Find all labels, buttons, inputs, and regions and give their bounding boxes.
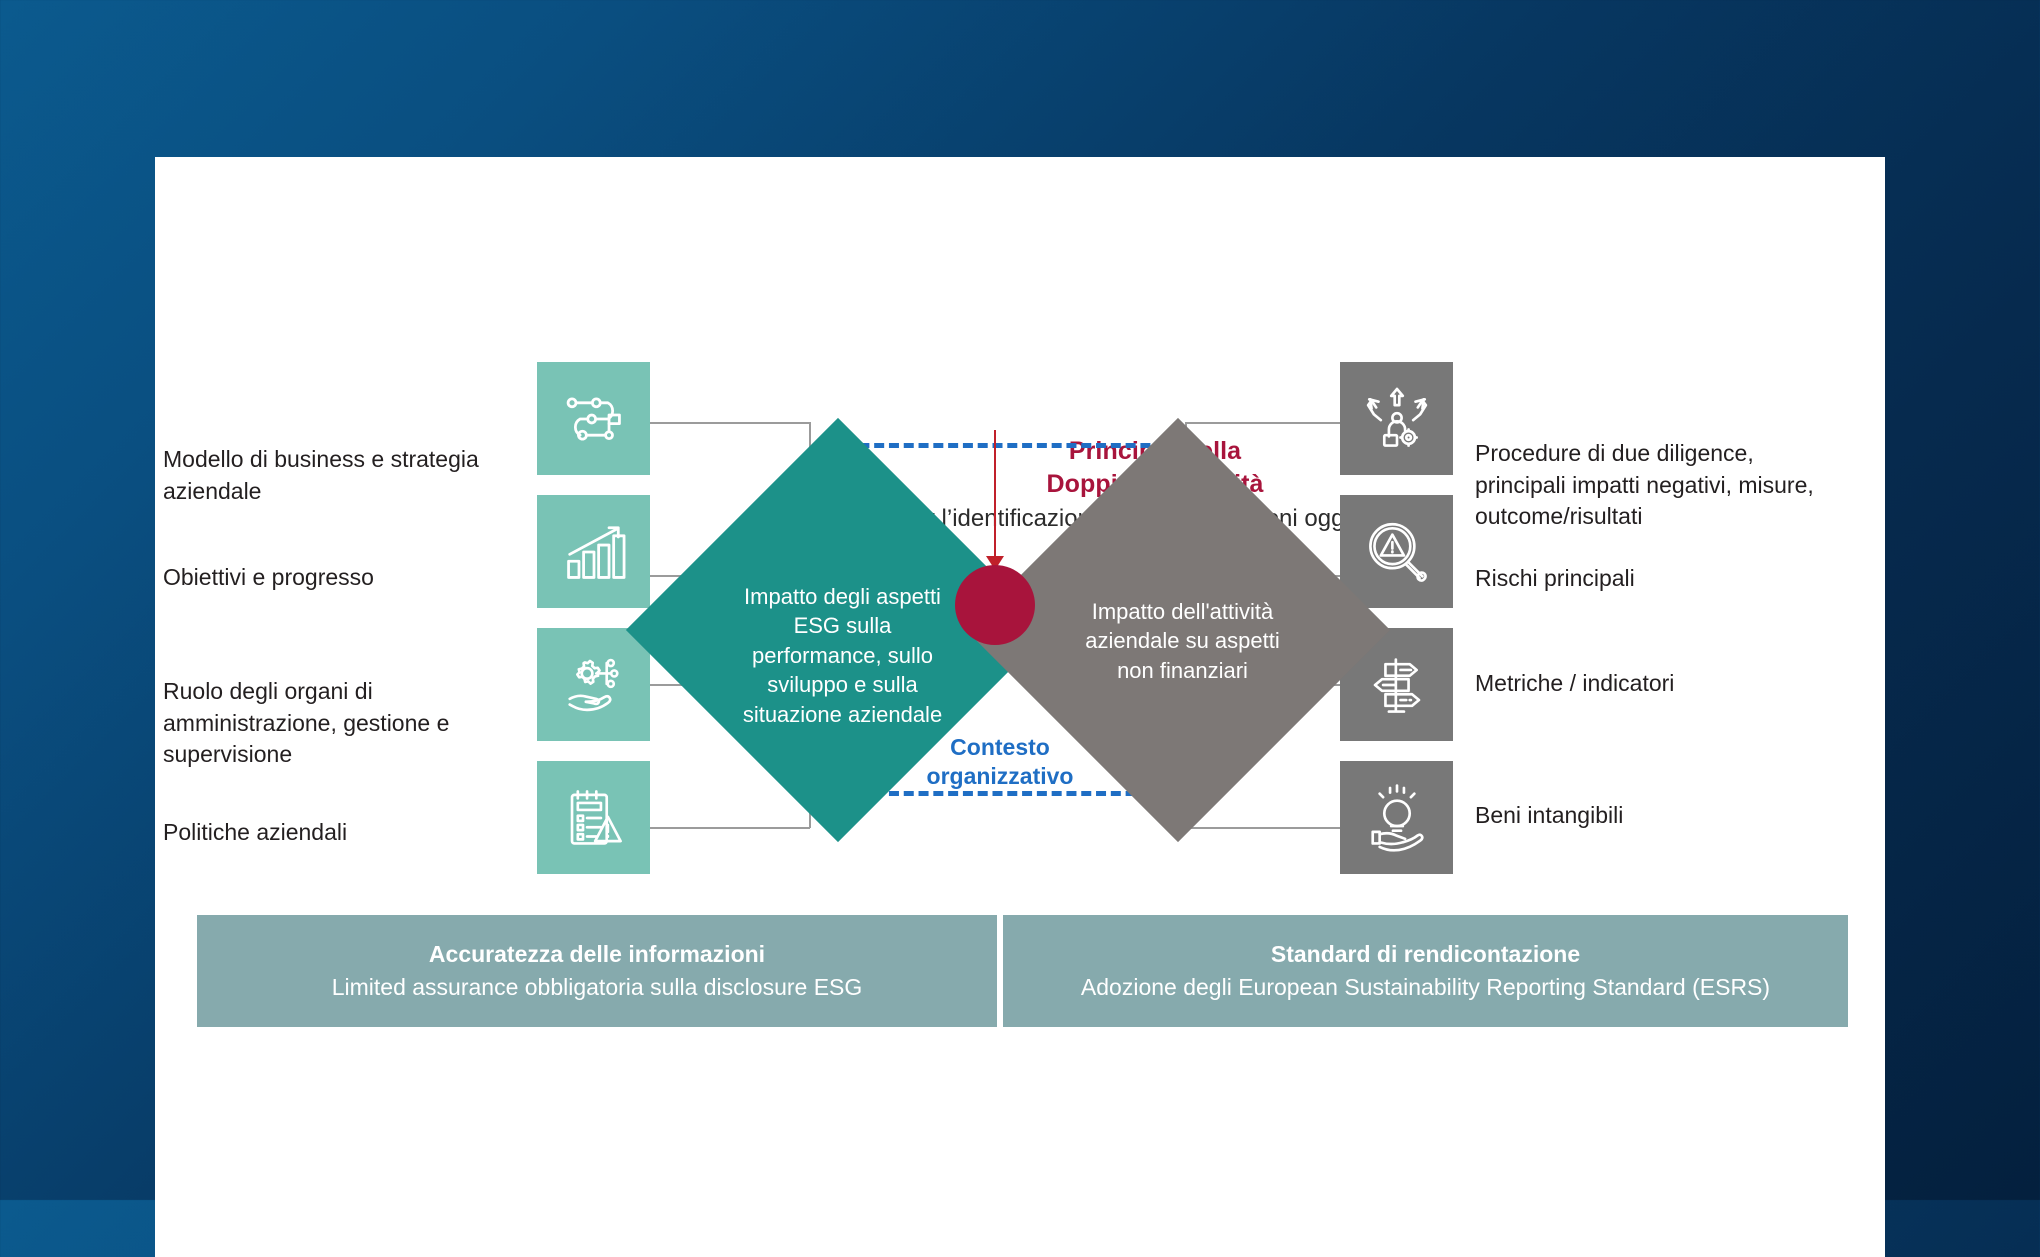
connector-right-4-h1 (1185, 827, 1340, 829)
right-label-1: Procedure di due diligence, principali i… (1475, 438, 1835, 533)
tile-right-2[interactable] (1340, 495, 1453, 608)
bottom-bar-standard-subtitle: Adozione degli European Sustainability R… (1081, 973, 1770, 1003)
process-flow-icon (557, 382, 631, 456)
context-label-line-2: organizzativo (880, 762, 1120, 791)
bottom-bar-accuracy-subtitle: Limited assurance obbligatoria sulla dis… (332, 973, 863, 1003)
tile-left-2[interactable] (537, 495, 650, 608)
left-label-2: Obiettivi e progresso (163, 562, 493, 594)
gear-on-hand-icon (557, 648, 631, 722)
tile-left-1[interactable] (537, 362, 650, 475)
bottom-bar-standard-title: Standard di rendicontazione (1271, 940, 1580, 970)
signpost-icon (1360, 648, 1434, 722)
tile-right-4[interactable] (1340, 761, 1453, 874)
connector-right-1-h1 (1185, 422, 1340, 424)
double-materiality-node (955, 565, 1035, 645)
red-arrow-line (994, 430, 996, 562)
bottom-bar-standard[interactable]: Standard di rendicontazione Adozione deg… (1003, 915, 1848, 1027)
bottom-bar-accuracy[interactable]: Accuratezza delle informazioni Limited a… (197, 915, 997, 1027)
left-label-3: Ruolo degli organi di amministrazione, g… (163, 676, 493, 771)
tile-left-3[interactable] (537, 628, 650, 741)
connector-left-4-h1 (650, 827, 810, 829)
tile-right-1[interactable] (1340, 362, 1453, 475)
magnifier-warning-icon (1360, 515, 1434, 589)
right-label-4: Beni intangibili (1475, 800, 1835, 832)
tile-left-4[interactable] (537, 761, 650, 874)
right-label-3: Metriche / indicatori (1475, 668, 1835, 700)
bottom-bar-accuracy-title: Accuratezza delle informazioni (429, 940, 765, 970)
bar-chart-growth-icon (557, 515, 631, 589)
policy-document-warning-icon (557, 781, 631, 855)
connector-left-1-h1 (650, 422, 810, 424)
left-label-1: Modello di business e strategia aziendal… (163, 444, 493, 507)
idea-on-hand-icon (1360, 781, 1434, 855)
right-label-2: Rischi principali (1475, 563, 1835, 595)
slide-canvas: Principio della Doppia Materialità per l… (155, 157, 1885, 1257)
multi-arrow-person-gear-icon (1360, 382, 1434, 456)
left-label-4: Politiche aziendali (163, 817, 493, 849)
